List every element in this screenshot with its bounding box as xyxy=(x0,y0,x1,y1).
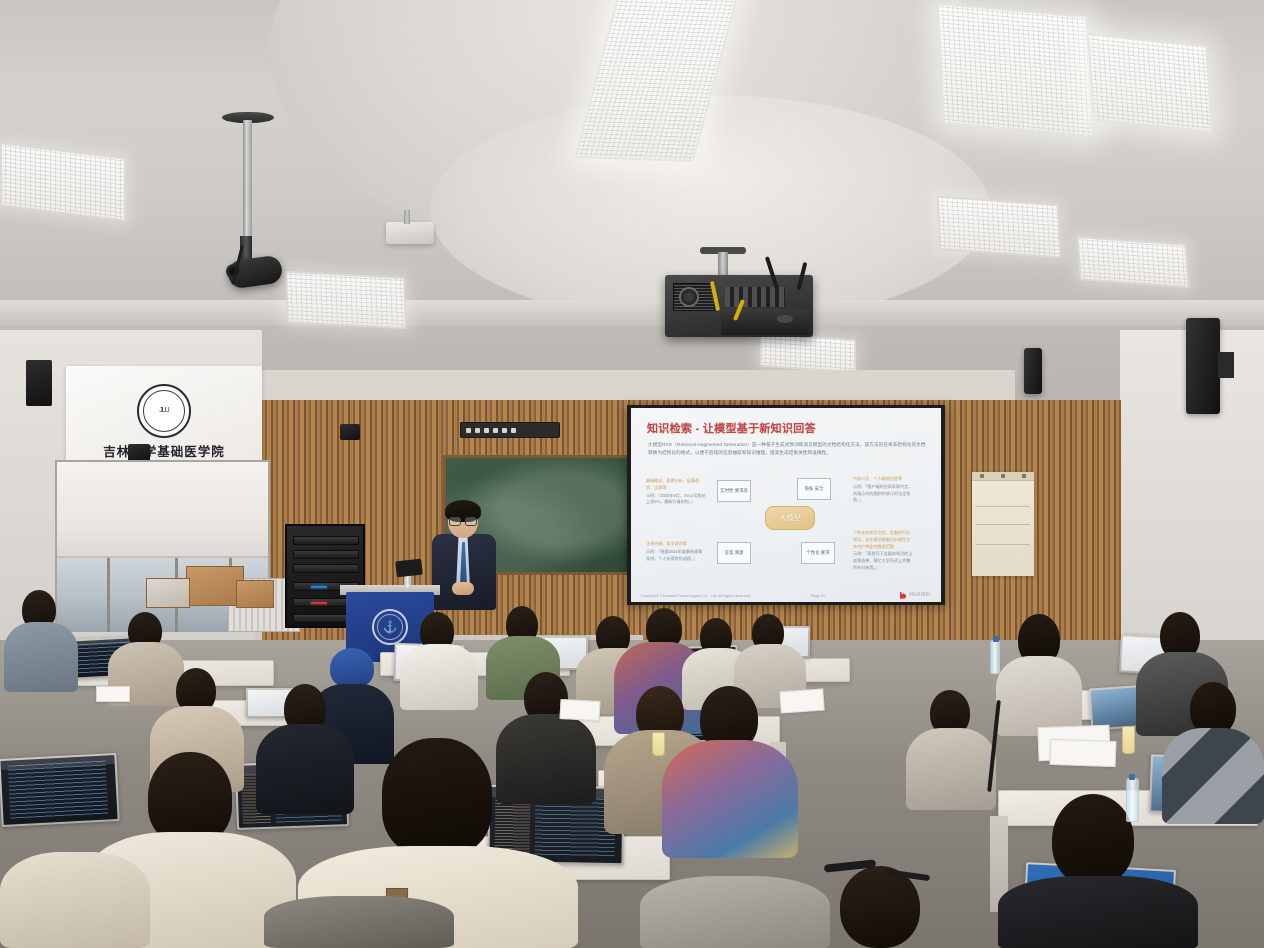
control-button[interactable] xyxy=(493,428,498,433)
cardboard-box xyxy=(236,580,274,608)
control-button[interactable] xyxy=(475,428,480,433)
slide-page-number: Page 32 xyxy=(811,593,840,598)
annotation-heading: 法律合规、医学研判等 xyxy=(646,541,706,548)
speaker-right-wall-secondary xyxy=(1024,348,1042,394)
window-roller-blind[interactable] xyxy=(57,462,268,558)
student-patterned-jacket xyxy=(662,740,798,858)
annotation-body: 示例：「帮我写下这篇的知识的上述筛选择，帮忙大学所读上完整的针对修等。」 xyxy=(853,551,913,571)
banner-chinese-text: 吉林大学基础医学院 xyxy=(103,441,225,460)
water-bottle xyxy=(990,640,1000,674)
laptop-lid xyxy=(0,753,120,827)
printed-handout xyxy=(1050,739,1117,767)
annotation-heading: 个性化的知识文档、定制的行业知识，及在模型数据分析模型文件内户特定的数据范围 xyxy=(853,530,913,550)
laptop[interactable] xyxy=(0,753,120,827)
student-grey-hoodie xyxy=(264,896,454,948)
rack-unit xyxy=(293,536,359,545)
projector-body-lower xyxy=(721,309,809,335)
slide-annotation-bottom-left: 法律合规、医学研判等 示例：「根据2024年度最新规章条例，个人所得税的退税。」 xyxy=(646,541,706,562)
lectern-monitor xyxy=(395,559,423,578)
ceiling-light-panel xyxy=(1077,236,1190,288)
eyeglasses-icon xyxy=(449,517,477,524)
huawei-mark-icon xyxy=(900,592,907,599)
slide-annotation-top-right: 内部公文、个人敏感信息等 示例：「客户端的合同条款约定，所指示的的细则的修订的法… xyxy=(853,476,913,504)
secondary-projector-mount xyxy=(404,210,410,224)
flipchart-clip-icon xyxy=(1022,474,1026,478)
window-mullion xyxy=(107,558,110,632)
flipchart-poster xyxy=(972,472,1034,576)
annotation-heading: 内部公文、个人敏感信息等 xyxy=(853,476,913,483)
flipchart-line xyxy=(976,544,1030,545)
seal-glyph: ⚓ xyxy=(383,620,398,634)
flipchart-line xyxy=(976,524,1030,525)
annotation-body: 示例：「客户端的合同条款约定，所指示的的细则的修订的法定条款。」 xyxy=(853,484,913,504)
control-button[interactable] xyxy=(511,428,516,433)
university-seal-icon: JLU xyxy=(137,384,191,438)
speaker-bracket xyxy=(1218,352,1234,378)
slide-card-privacy: 隐私 安全 xyxy=(797,478,831,500)
lecture-hall-photo: JLU 吉林大学基础医学院 COLLEGE OF BASIC MEDICAL S… xyxy=(0,0,1264,948)
speaker-left-wall xyxy=(26,360,52,406)
slide-annotation-top-left: 最新概念、股票分析、疫情趋势、比赛等 示例：「2025年8月，XX公司股价上涨5… xyxy=(646,478,706,506)
slide-footer: Copyright © Huawei Technologies Co., Ltd… xyxy=(631,588,941,602)
slide-body-text: 大模型RAG（Retrieval-Augmented Generation）是一… xyxy=(648,441,926,458)
presenter xyxy=(430,500,500,610)
rack-unit xyxy=(293,550,359,559)
slide-copyright: Copyright © Huawei Technologies Co., Ltd… xyxy=(641,593,750,598)
camera-pole xyxy=(243,120,252,242)
laptop-screen-titlebar xyxy=(0,755,114,770)
ceiling-light-panel xyxy=(937,196,1062,259)
speaker-right-wall xyxy=(1186,318,1220,414)
student-torso xyxy=(496,714,596,804)
huawei-wordmark: HUAWEI xyxy=(909,592,931,598)
student-torso xyxy=(400,644,478,710)
water-bottle xyxy=(1126,778,1139,822)
annotation-heading: 最新概念、股票分析、疫情趋势、比赛等 xyxy=(646,478,706,492)
classroom-control-panel[interactable] xyxy=(460,422,560,438)
student-cap xyxy=(330,648,374,688)
huawei-logo: HUAWEI xyxy=(900,592,931,599)
presenter-hands xyxy=(452,582,474,595)
annotation-body: 示例：「2025年8月，XX公司股价上涨5%，最新行情如何。」 xyxy=(646,493,706,507)
slide-card-answer: 答案 溯源 xyxy=(717,542,751,564)
student-sweater xyxy=(0,852,150,948)
slide-title: 知识检索 - 让模型基于新知识回答 xyxy=(647,420,816,436)
ceiling-light-panel xyxy=(1087,33,1213,133)
printed-handout xyxy=(779,688,824,713)
flipchart-clamp-bar xyxy=(972,472,1034,481)
flipchart-line xyxy=(976,506,1030,507)
student-torso xyxy=(996,656,1082,736)
ceiling-light-panel xyxy=(760,333,856,374)
slide-card-personal: 个性化 要求 xyxy=(801,542,835,564)
slide-annotation-bottom-right: 个性化的知识文档、定制的行业知识，及在模型数据分析模型文件内户特定的数据范围 示… xyxy=(853,530,913,572)
speaker-back-wall xyxy=(340,424,360,440)
control-button[interactable] xyxy=(466,428,471,433)
printed-handout xyxy=(96,686,130,702)
drink-cup xyxy=(1122,726,1135,754)
student-head xyxy=(382,738,492,856)
student-head xyxy=(148,752,232,844)
projector-icon xyxy=(665,275,813,337)
flipchart-clip-icon xyxy=(980,474,984,478)
flipchart-clip-icon xyxy=(1001,474,1005,478)
ceiling-light-panel xyxy=(0,142,126,221)
projection-screen: 知识检索 - 让模型基于新知识回答 大模型RAG（Retrieval-Augme… xyxy=(627,405,945,605)
ceiling-light-panel xyxy=(937,3,1093,137)
cardboard-box-lid xyxy=(146,578,190,608)
ceiling-light-panel xyxy=(285,271,407,329)
student-torso xyxy=(906,728,996,810)
drink-cup xyxy=(652,732,665,756)
slide-center-node: 大模型 xyxy=(765,506,815,530)
projector-lens-icon xyxy=(777,315,793,323)
lectern-university-seal-icon: ⚓ xyxy=(372,609,408,645)
student-head xyxy=(1052,794,1134,886)
secondary-projector xyxy=(386,222,434,244)
annotation-body: 示例：「根据2024年度最新规章条例，个人所得税的退税。」 xyxy=(646,549,706,563)
printed-handout xyxy=(560,699,601,721)
projector-ports xyxy=(725,287,785,307)
projector-fan-icon xyxy=(679,287,699,307)
student-torso xyxy=(998,876,1198,948)
control-button[interactable] xyxy=(484,428,489,433)
student-plaid-sweater xyxy=(1162,728,1264,824)
slide-card-realtime: 实时性 要求高 xyxy=(717,480,751,502)
student-torso xyxy=(4,622,78,692)
rack-unit xyxy=(293,564,359,573)
seal-initials: JLU xyxy=(159,407,168,414)
rack-status-led xyxy=(311,586,327,588)
laptop-screen-code-editor xyxy=(0,755,117,825)
control-button[interactable] xyxy=(502,428,507,433)
presentation-slide: 知识检索 - 让模型基于新知识回答 大模型RAG（Retrieval-Augme… xyxy=(631,408,941,602)
rack-status-led xyxy=(311,602,327,604)
ceiling-edge-trim xyxy=(0,300,1264,326)
student-torso xyxy=(256,724,354,814)
student-hoodie xyxy=(640,876,830,948)
